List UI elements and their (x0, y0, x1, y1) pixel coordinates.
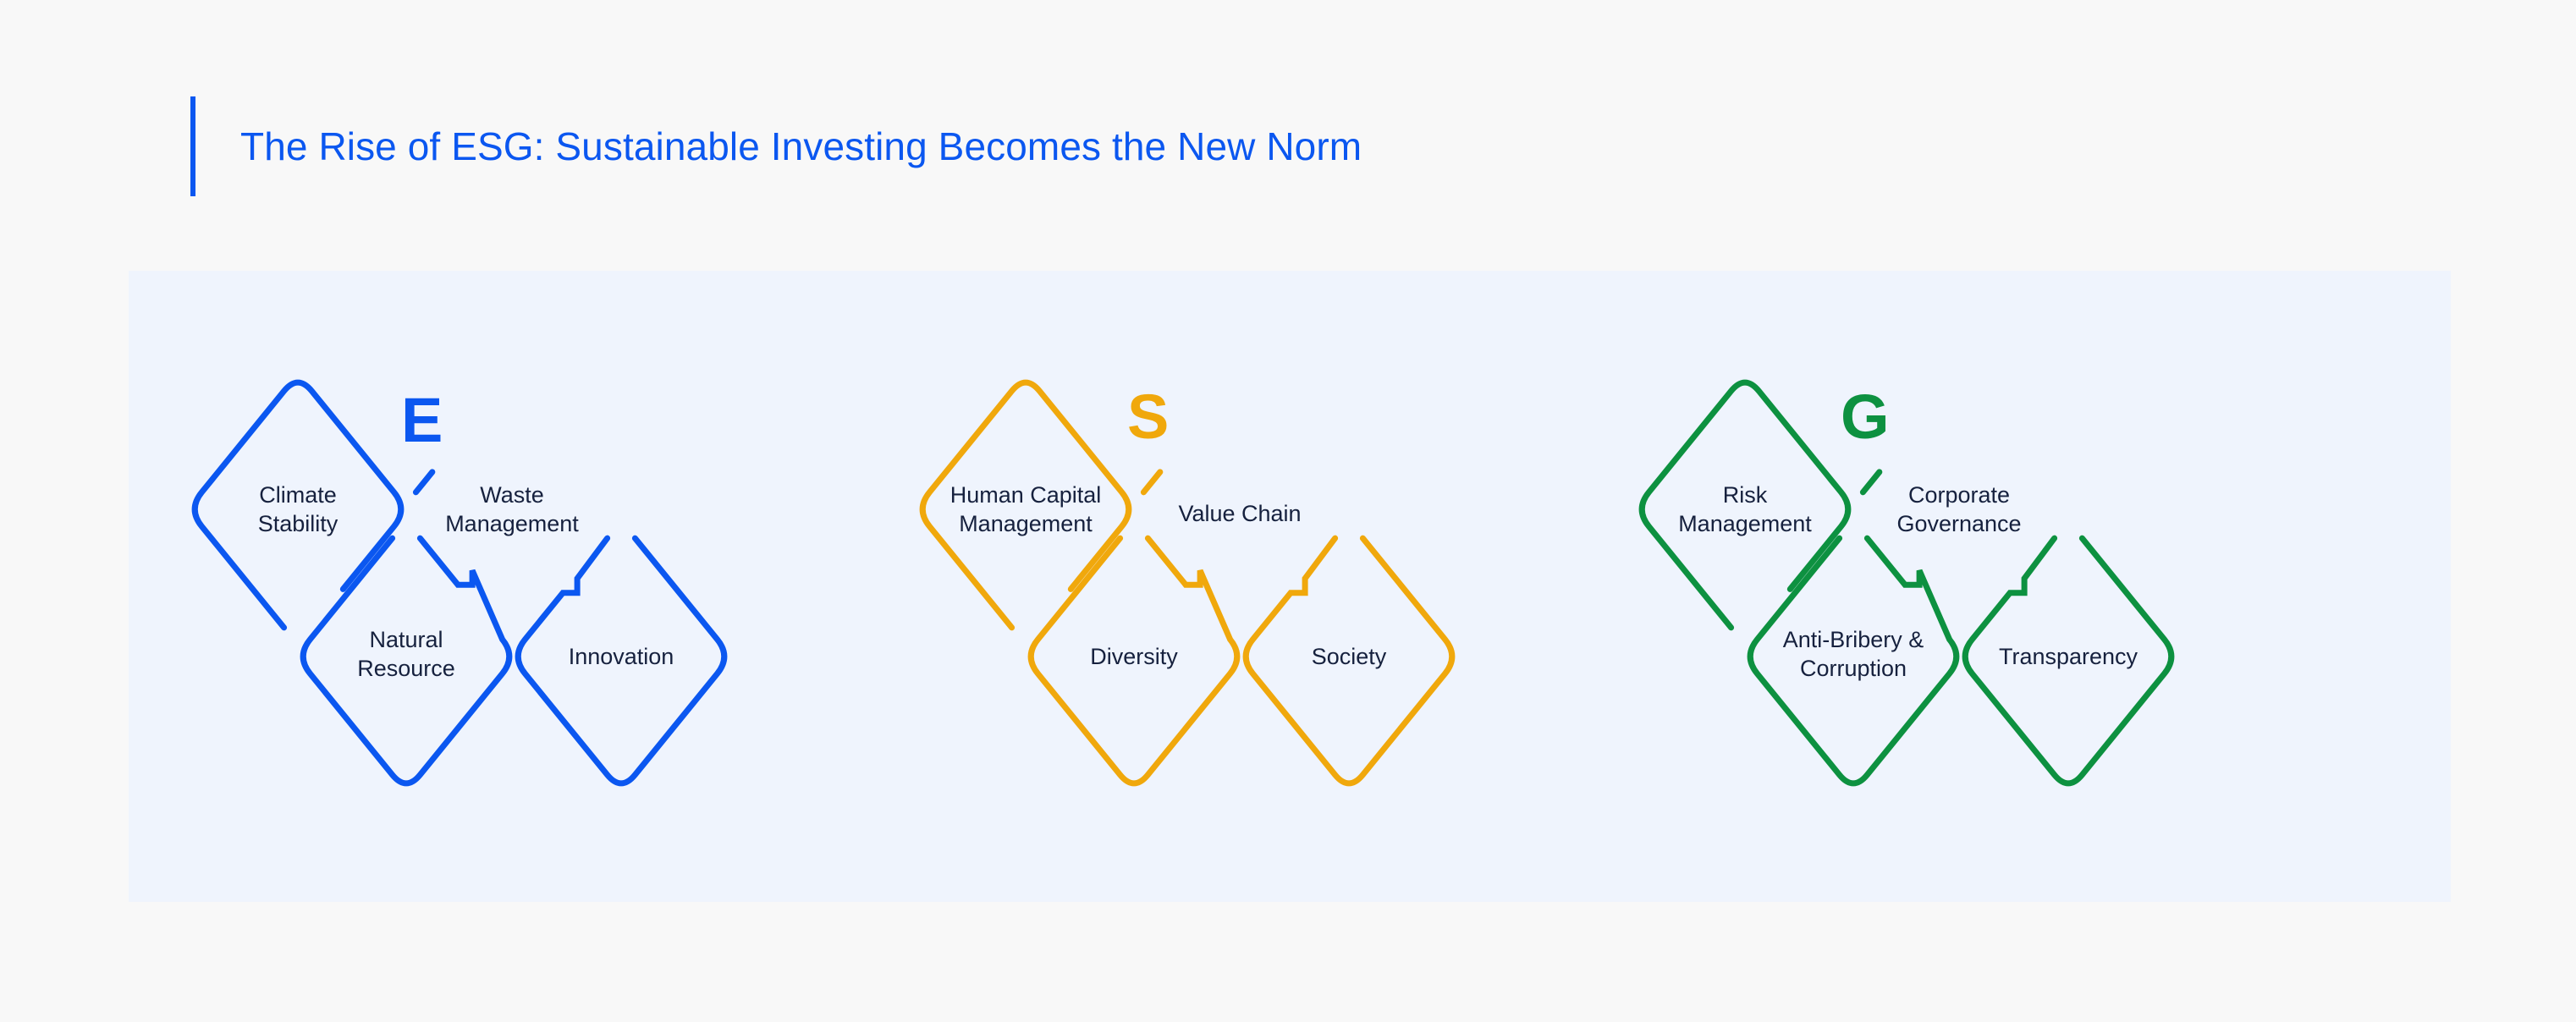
group-letter-environmental: E (401, 389, 443, 452)
governance-diamond-top-left (1642, 382, 1848, 628)
social-diamond-bottom-right (1246, 538, 1452, 783)
title-block: The Rise of ESG: Sustainable Investing B… (190, 96, 1362, 197)
environmental-diamond-top-left (195, 382, 401, 628)
title-accent-bar (190, 96, 195, 196)
esg-group-environmental: E Climate Stability Waste Management Nat… (171, 271, 933, 902)
page-title: The Rise of ESG: Sustainable Investing B… (240, 124, 1362, 169)
esg-group-social: S Human Capital Management Value Chain D… (899, 271, 1660, 902)
group-letter-governance: G (1841, 386, 1890, 448)
social-diamond-top-right (1143, 472, 1159, 492)
group-letter-social: S (1127, 386, 1169, 448)
environmental-diamond-top-right (416, 472, 432, 492)
diamond-cluster-governance (1618, 271, 2380, 902)
environmental-diamond-bottom-left (303, 538, 509, 783)
esg-groups-row: E Climate Stability Waste Management Nat… (129, 271, 2451, 902)
social-diamond-top-left (922, 382, 1129, 628)
environmental-diamond-bottom-right (518, 538, 724, 783)
governance-diamond-bottom-right (1965, 538, 2171, 783)
diamond-cluster-social (899, 271, 1660, 902)
social-diamond-bottom-left (1031, 538, 1237, 783)
esg-diagram-panel: E Climate Stability Waste Management Nat… (129, 271, 2451, 902)
governance-diamond-top-right (1863, 472, 1879, 492)
diamond-cluster-environmental (171, 271, 933, 902)
esg-group-governance: G Risk Management Corporate Governance A… (1618, 271, 2380, 902)
governance-diamond-bottom-left (1750, 538, 1957, 783)
